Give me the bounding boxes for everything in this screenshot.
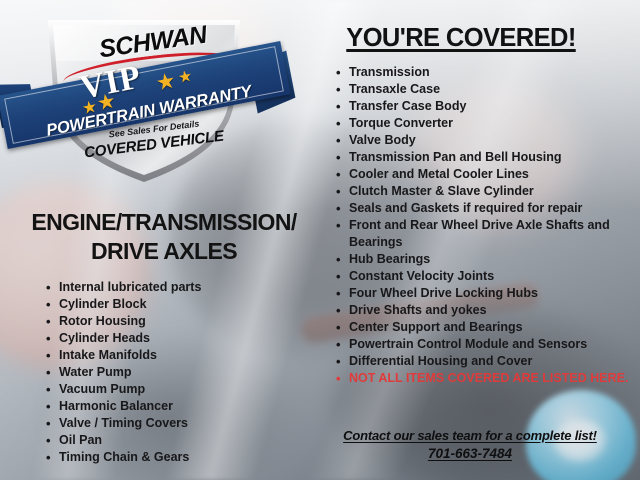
list-item: Hub Bearings: [334, 251, 634, 268]
list-item: Transfer Case Body: [334, 98, 634, 115]
list-item: Powertrain Control Module and Sensors: [334, 336, 634, 353]
list-item: Rotor Housing: [44, 313, 314, 330]
list-item: Clutch Master & Slave Cylinder: [334, 183, 634, 200]
list-item: Differential Housing and Cover: [334, 353, 634, 370]
list-item: Valve / Timing Covers: [44, 415, 314, 432]
list-item: NOT ALL ITEMS COVERED ARE LISTED HERE.: [334, 370, 634, 387]
contact-block: Contact our sales team for a complete li…: [300, 428, 640, 461]
section-title-line-1: ENGINE/TRANSMISSION/: [4, 208, 324, 237]
list-item: Drive Shafts and yokes: [334, 302, 634, 319]
list-item: Transmission Pan and Bell Housing: [334, 149, 634, 166]
list-item: Vacuum Pump: [44, 381, 314, 398]
list-item: Cooler and Metal Cooler Lines: [334, 166, 634, 183]
list-item: Constant Velocity Joints: [334, 268, 634, 285]
list-item: Front and Rear Wheel Drive Axle Shafts a…: [334, 217, 634, 251]
covered-items-list: TransmissionTransaxle CaseTransfer Case …: [334, 64, 634, 387]
warranty-poster: SCHWAN ★ ★ ★ ★ VIP POWERTRAIN WARRANTY S…: [0, 0, 640, 480]
engine-items-list: Internal lubricated partsCylinder BlockR…: [44, 279, 314, 466]
list-item: Cylinder Heads: [44, 330, 314, 347]
list-item: Water Pump: [44, 364, 314, 381]
star-icon: ★: [154, 67, 178, 96]
list-item: Oil Pan: [44, 432, 314, 449]
list-item: Valve Body: [334, 132, 634, 149]
list-item: Timing Chain & Gears: [44, 449, 314, 466]
list-item: Center Support and Bearings: [334, 319, 634, 336]
section-title-engine: ENGINE/TRANSMISSION/ DRIVE AXLES: [4, 208, 324, 266]
section-title-line-2: DRIVE AXLES: [4, 237, 324, 266]
list-item: Torque Converter: [334, 115, 634, 132]
list-item: Seals and Gaskets if required for repair: [334, 200, 634, 217]
list-item: Transmission: [334, 64, 634, 81]
contact-phone[interactable]: 701-663-7484: [300, 446, 640, 461]
vip-warranty-badge: SCHWAN ★ ★ ★ ★ VIP POWERTRAIN WARRANTY S…: [18, 6, 268, 186]
list-item: Harmonic Balancer: [44, 398, 314, 415]
page-title-covered: YOU'RE COVERED!: [314, 24, 608, 53]
list-item: Intake Manifolds: [44, 347, 314, 364]
list-item: Cylinder Block: [44, 296, 314, 313]
list-item: Transaxle Case: [334, 81, 634, 98]
list-item: Internal lubricated parts: [44, 279, 314, 296]
contact-cta: Contact our sales team for a complete li…: [300, 428, 640, 443]
list-item: Four Wheel Drive Locking Hubs: [334, 285, 634, 302]
